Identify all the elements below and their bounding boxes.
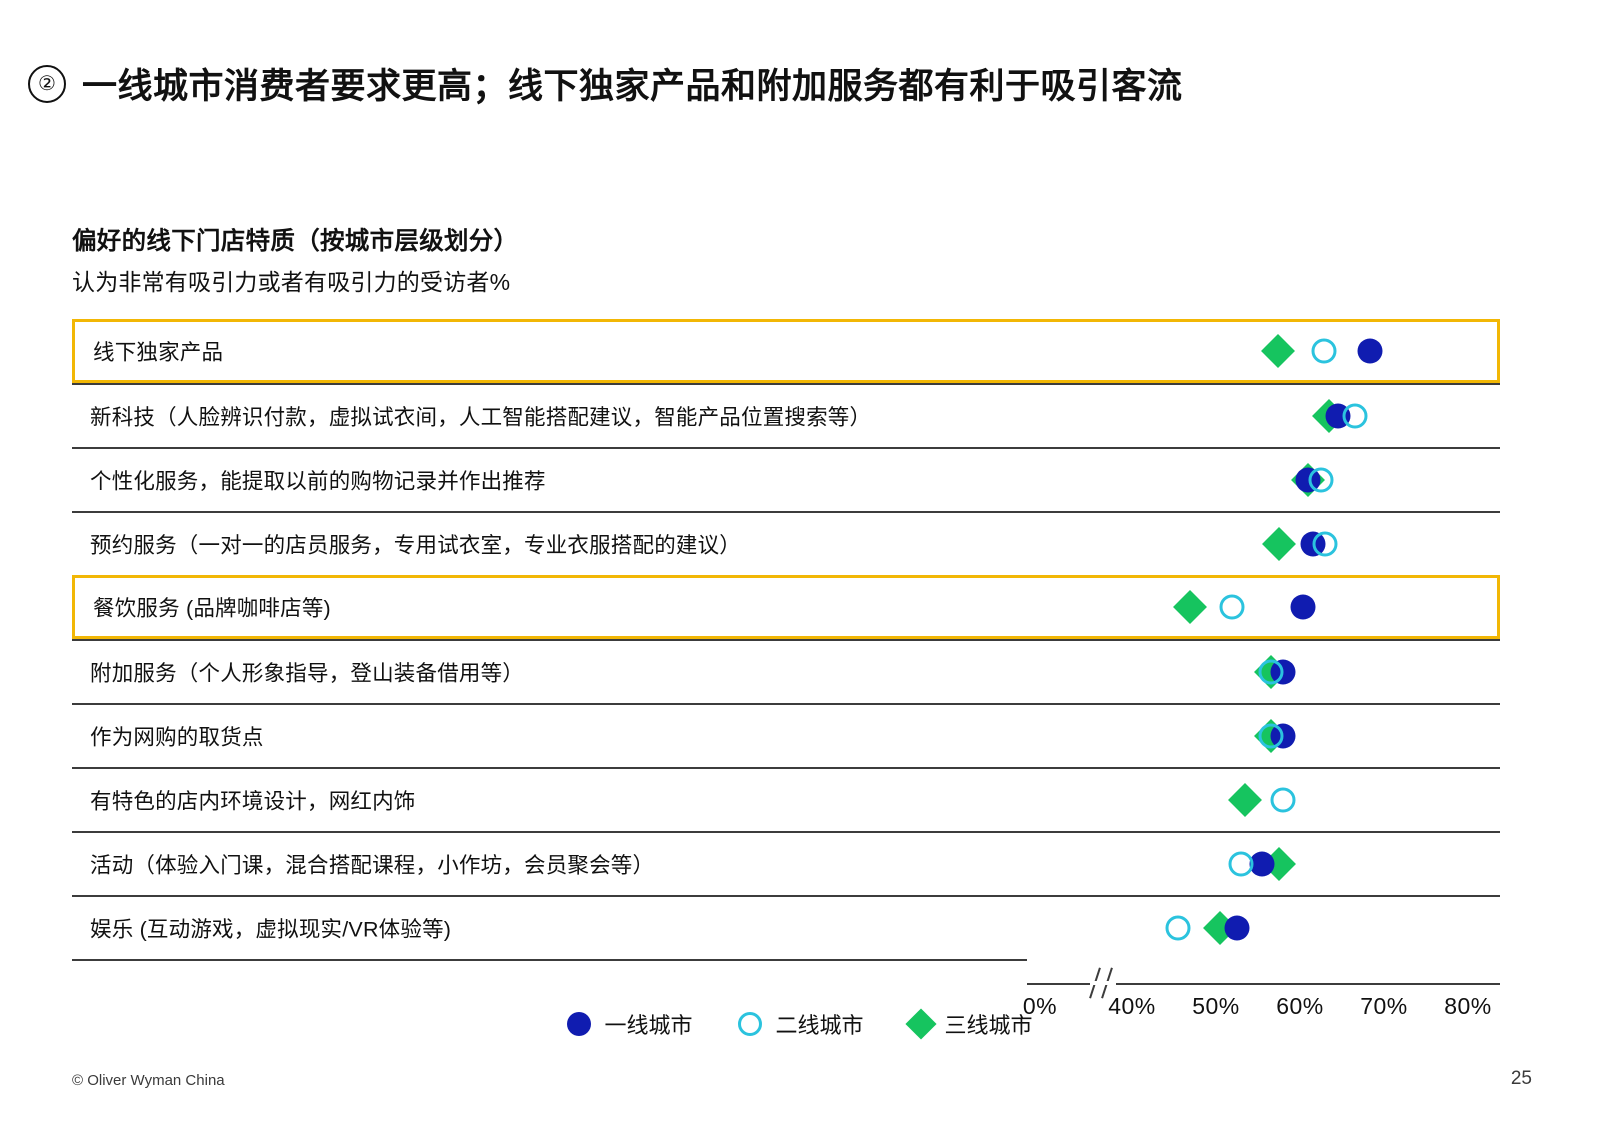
chart-rows: 线下独家产品新科技（人脸辨识付款，虚拟试衣间，人工智能搭配建议，智能产品位置搜索… [72,319,1500,961]
data-point-marker [1225,916,1250,941]
legend-item-label: 二线城市 [775,1008,863,1040]
chart-row: 作为网购的取货点 [72,703,1500,767]
chart-subtitle: 认为非常有吸引力或者有吸引力的受访者% [72,263,1500,297]
chart-row: 附加服务（个人形象指导，登山装备借用等） [72,639,1500,703]
data-point-marker [1312,339,1337,364]
chart-title: 偏好的线下门店特质（按城市层级划分） [72,222,1500,257]
data-point-marker [1166,916,1191,941]
data-point-marker [1313,532,1338,557]
copyright-text: © Oliver Wyman China [72,1072,225,1089]
legend-item[interactable]: 三线城市 [910,1008,1033,1040]
chart-block: 偏好的线下门店特质（按城市层级划分） 认为非常有吸引力或者有吸引力的受访者% 线… [72,222,1500,1025]
chart-row-plot [72,769,1500,831]
chart-row: 娱乐 (互动游戏，虚拟现实/VR体验等) [72,895,1500,959]
data-point-marker [1258,724,1283,749]
chart-row-plot [72,385,1500,447]
chart-row-plot [72,705,1500,767]
chart-row: 活动（体验入门课，混合搭配课程，小作坊，会员聚会等） [72,831,1500,895]
legend-item-label: 三线城市 [945,1008,1033,1040]
legend-item-label: 一线城市 [604,1008,692,1040]
chart-row-plot [75,578,1497,636]
chart-row-plot [72,897,1500,959]
legend-item[interactable]: 二线城市 [738,1008,863,1040]
data-point-marker [1258,660,1283,685]
data-point-marker [1271,788,1296,813]
page-number: 25 [1511,1068,1532,1090]
data-point-marker [1173,590,1207,624]
chart-row: 餐饮服务 (品牌咖啡店等) [72,575,1500,639]
chart-row: 线下独家产品 [72,319,1500,383]
data-point-marker [1261,334,1295,368]
chart-legend: 一线城市二线城市三线城市 [0,1008,1600,1040]
step-number-badge: ② [28,65,66,103]
slide-header: ② 一线城市消费者要求更高；线下独家产品和附加服务都有利于吸引客流 [28,58,1183,109]
data-point-marker [1309,468,1334,493]
legend-item[interactable]: 一线城市 [567,1008,692,1040]
chart-row-plot [75,322,1497,380]
data-point-marker [1291,595,1316,620]
page-title: 一线城市消费者要求更高；线下独家产品和附加服务都有利于吸引客流 [82,58,1183,109]
chart-row-plot [72,833,1500,895]
data-point-marker [1262,527,1296,561]
chart-row-plot [72,513,1500,575]
data-point-marker [1342,404,1367,429]
chart-row: 预约服务（一对一的店员服务，专用试衣室，专业衣服搭配的建议） [72,511,1500,575]
chart-row: 新科技（人脸辨识付款，虚拟试衣间，人工智能搭配建议，智能产品位置搜索等） [72,383,1500,447]
data-point-marker [1219,595,1244,620]
chart-row-plot [72,449,1500,511]
chart-row-plot [72,641,1500,703]
legend-open-circle-icon [738,1012,762,1036]
data-point-marker [1358,339,1383,364]
chart-row: 个性化服务，能提取以前的购物记录并作出推荐 [72,447,1500,511]
chart-row: 有特色的店内环境设计，网红内饰 [72,767,1500,831]
legend-filled-circle-icon [567,1012,591,1036]
data-point-marker [1228,783,1262,817]
legend-diamond-icon [905,1008,936,1039]
data-point-marker [1229,852,1254,877]
